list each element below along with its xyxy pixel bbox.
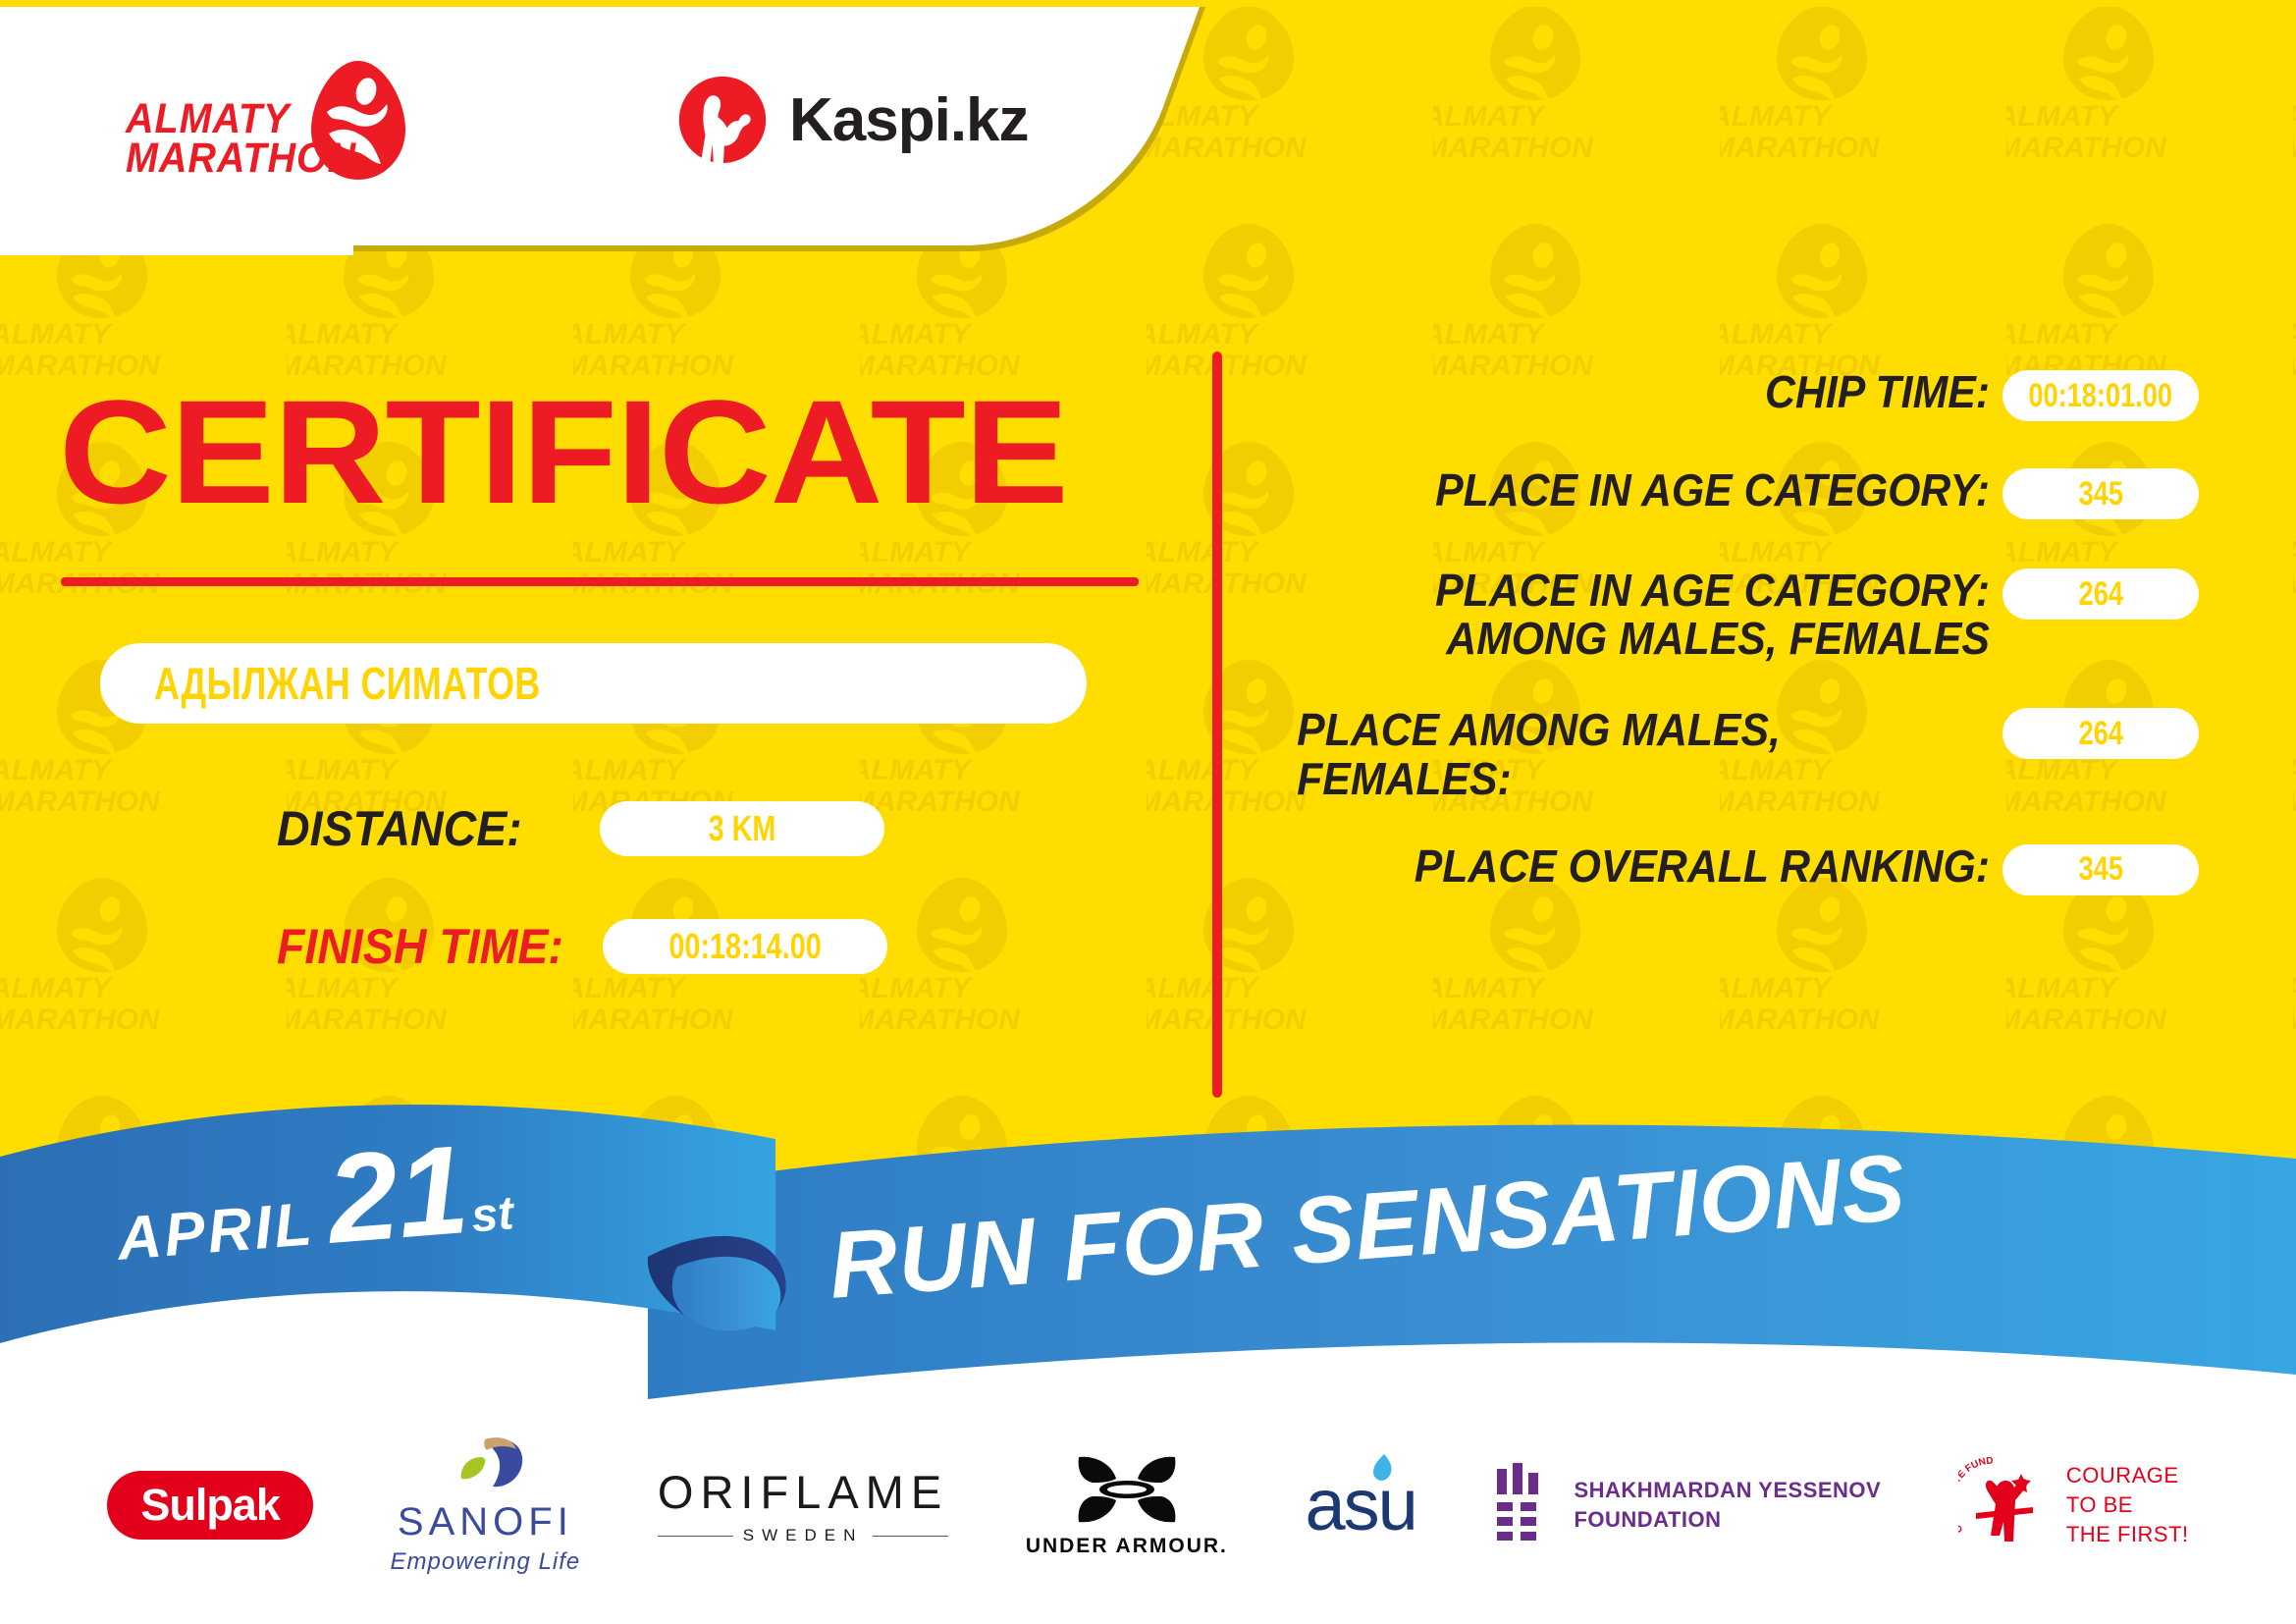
place-among-males-females-value-field: 264: [2002, 708, 2199, 759]
place-among-males-females-label: PLACE AMONG MALES, FEMALES:: [1286, 706, 1952, 802]
certificate-page: ALMATY MARATHON ALMATY MARATHON: [0, 0, 2296, 1624]
sponsor-sanofi: SANOFI Empowering Life: [391, 1435, 581, 1576]
sponsor-sulpak: Sulpak: [107, 1471, 313, 1540]
marathon-logo-line2: MARATHON: [126, 139, 356, 179]
sulpak-logo: Sulpak: [107, 1471, 313, 1540]
sulpak-wordmark: Sulpak: [140, 1480, 280, 1530]
place-age-category-value-field: 345: [2002, 468, 2199, 519]
distance-label: DISTANCE:: [277, 800, 522, 857]
place-age-category-among-value: 264: [2078, 575, 2122, 614]
chip-time-value: 00:18:01.00: [2029, 377, 2173, 415]
title-underline: [61, 577, 1139, 586]
sponsor-bar: Sulpak SANOFI Empowering Life ORIFLAME S…: [0, 1412, 2296, 1598]
place-age-category-value: 345: [2078, 475, 2122, 514]
oriflame-sub: SWEDEN: [658, 1526, 948, 1545]
sponsor-oriflame: ORIFLAME SWEDEN: [658, 1465, 948, 1545]
asu-droplet-icon: [1370, 1453, 1396, 1483]
yessenov-line2: FOUNDATION: [1574, 1505, 1881, 1535]
asu-wordmark: asu: [1306, 1469, 1416, 1542]
under-armour-wordmark: UNDER ARMOUR.: [1026, 1535, 1228, 1558]
place-overall-value: 345: [2078, 850, 2122, 889]
place-age-category-among-label: PLACE IN AGE CATEGORY: AMONG MALES, FEMA…: [1336, 567, 2002, 663]
chip-time-value-field: 00:18:01.00: [2002, 370, 2199, 421]
kaspi-wordmark: Kaspi.kz: [789, 85, 1029, 155]
column-divider: [1212, 352, 1222, 1098]
stat-row-chip-time: CHIP TIME: 00:18:01.00: [1286, 368, 2199, 421]
stat-row-place-overall: PLACE OVERALL RANKING: 345: [1286, 842, 2199, 895]
under-armour-logo: UNDER ARMOUR.: [1026, 1453, 1228, 1558]
event-day: 21: [324, 1133, 472, 1257]
place-age-category-label: PLACE IN AGE CATEGORY:: [1336, 466, 2002, 514]
place-age-category-among-value-field: 264: [2002, 568, 2199, 620]
sponsor-courage-to-be-the-first: CORPORATE FUND COURAGE TO BE THE FIRST!: [1958, 1456, 2189, 1554]
oriflame-rule-left: [658, 1536, 733, 1537]
oriflame-rule-right: [873, 1536, 948, 1537]
place-overall-label: PLACE OVERALL RANKING:: [1336, 842, 2002, 891]
chip-time-label: CHIP TIME:: [1336, 368, 2002, 416]
stat-row-distance: DISTANCE: 3 KM: [277, 800, 884, 857]
distance-value-field: 3 KM: [600, 801, 884, 856]
courage-line2: TO BE: [2066, 1490, 2189, 1520]
sponsor-yessenov-foundation: SHAKHMARDAN YESSENOV FOUNDATION: [1493, 1463, 1881, 1547]
event-day-suffix: st: [469, 1186, 515, 1243]
sanofi-logo: SANOFI Empowering Life: [391, 1435, 581, 1576]
svg-text:CORPORATE FUND: CORPORATE FUND: [1958, 1456, 1994, 1535]
results-stats-list: CHIP TIME: 00:18:01.00 PLACE IN AGE CATE…: [1286, 368, 2199, 913]
sponsor-asu: asu: [1306, 1469, 1416, 1542]
yessenov-logo: SHAKHMARDAN YESSENOV FOUNDATION: [1493, 1463, 1881, 1547]
courage-badge-text: CORPORATE FUND: [1958, 1456, 1994, 1535]
yessenov-line1: SHAKHMARDAN YESSENOV: [1574, 1476, 1881, 1505]
kaspi-logo: Kaspi.kz: [677, 71, 1029, 169]
stat-row-finish-time: FINISH TIME: 00:18:14.00: [277, 918, 887, 975]
finish-time-label: FINISH TIME:: [277, 918, 563, 975]
sanofi-wordmark: SANOFI: [398, 1500, 573, 1544]
oriflame-tagline: SWEDEN: [743, 1526, 864, 1545]
header-content: ALMATY MARATHON Kaspi.kz: [0, 0, 1129, 245]
yessenov-wordmark: SHAKHMARDAN YESSENOV FOUNDATION: [1574, 1476, 1881, 1534]
oriflame-wordmark: ORIFLAME: [658, 1465, 948, 1519]
kaspi-family-icon: [677, 75, 768, 165]
oriflame-logo: ORIFLAME SWEDEN: [658, 1465, 948, 1545]
place-overall-value-field: 345: [2002, 844, 2199, 895]
finish-time-value-field: 00:18:14.00: [603, 919, 887, 974]
stat-row-place-among-males-females: PLACE AMONG MALES, FEMALES: 264: [1286, 706, 2199, 802]
courage-line3: THE FIRST!: [2066, 1520, 2189, 1549]
almaty-marathon-wordmark: ALMATY MARATHON: [126, 100, 377, 178]
under-armour-mark-icon: [1069, 1453, 1185, 1526]
sponsor-under-armour: UNDER ARMOUR.: [1026, 1453, 1228, 1558]
stat-row-place-age-category-among: PLACE IN AGE CATEGORY: AMONG MALES, FEMA…: [1286, 567, 2199, 663]
page-title: CERTIFICATE: [59, 378, 1068, 525]
courage-wordmark: COURAGE TO BE THE FIRST!: [2066, 1461, 2189, 1548]
courage-logo: CORPORATE FUND COURAGE TO BE THE FIRST!: [1958, 1456, 2189, 1554]
courage-line1: COURAGE: [2066, 1461, 2189, 1490]
yessenov-mark-icon: [1493, 1463, 1554, 1547]
participant-name-field: АДЫЛЖАН СИМАТОВ: [100, 643, 1087, 724]
courage-runner-icon: CORPORATE FUND: [1958, 1456, 2053, 1554]
sanofi-tagline: Empowering Life: [391, 1548, 581, 1576]
distance-value: 3 KM: [708, 808, 775, 849]
place-among-males-females-value: 264: [2078, 715, 2122, 753]
participant-name-value: АДЫЛЖАН СИМАТОВ: [154, 657, 541, 710]
almaty-marathon-logo: ALMATY MARATHON: [118, 59, 442, 187]
asu-logo: asu: [1306, 1469, 1416, 1542]
sanofi-mark-icon: [440, 1435, 530, 1496]
finish-time-value: 00:18:14.00: [668, 926, 821, 967]
stat-row-place-age-category: PLACE IN AGE CATEGORY: 345: [1286, 466, 2199, 519]
